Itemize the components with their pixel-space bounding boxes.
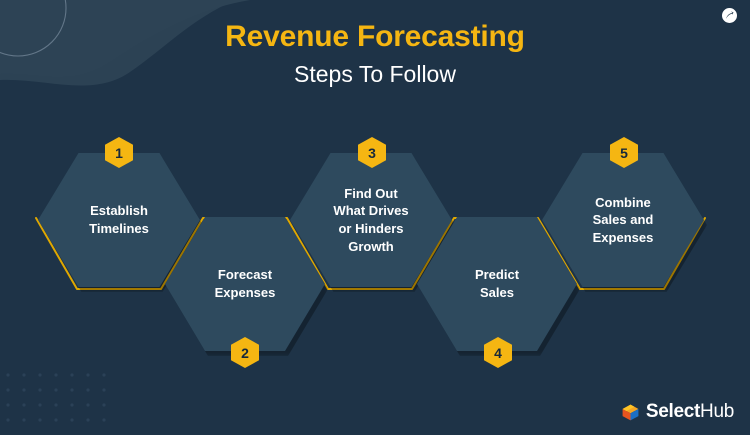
step-label: Forecast Expenses: [183, 266, 308, 301]
selecthub-logo[interactable]: SelectHub: [621, 401, 734, 423]
step-label: Predict Sales: [435, 266, 560, 301]
step-number: 5: [620, 146, 628, 160]
share-circle-icon[interactable]: [722, 8, 737, 23]
cube-icon: [621, 403, 640, 422]
step-label: Establish Timelines: [56, 202, 182, 237]
logo-wordmark: SelectHub: [646, 401, 734, 423]
slide-canvas: Revenue Forecasting Steps To Follow Esta…: [0, 0, 750, 435]
step-label: Combine Sales and Expenses: [560, 194, 686, 247]
step-hexagon-5[interactable]: Combine Sales and Expenses: [542, 153, 704, 287]
step-number: 1: [115, 146, 123, 160]
title-block: Revenue Forecasting Steps To Follow: [0, 20, 750, 87]
page-subtitle: Steps To Follow: [0, 61, 750, 87]
logo-name-light: Hub: [700, 401, 734, 422]
step-number: 3: [368, 146, 376, 160]
page-title: Revenue Forecasting: [0, 20, 750, 55]
step-number: 2: [241, 346, 249, 360]
step-label: Find Out What Drives or Hinders Growth: [308, 185, 434, 255]
step-number: 4: [494, 346, 502, 360]
logo-name-bold: Select: [646, 401, 700, 422]
